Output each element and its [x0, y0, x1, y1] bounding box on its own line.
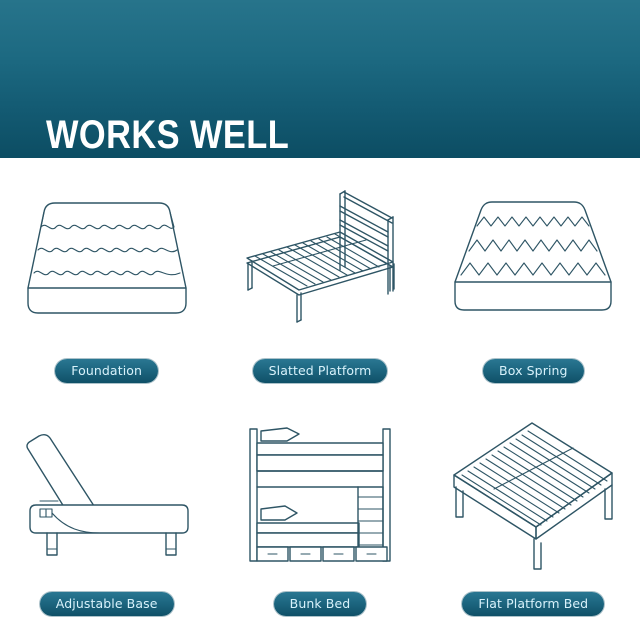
label-wrap: Flat Platform Bed [427, 590, 640, 616]
adjustable-base-icon [14, 413, 200, 575]
base-label-flat-platform-bed: Flat Platform Bed [462, 592, 604, 616]
infographic-card: WORKS WELL WITH THESE BASES Foundation [0, 0, 640, 640]
foundation-mattress-icon [14, 170, 200, 332]
header-banner: WORKS WELL WITH THESE BASES [0, 0, 640, 158]
base-item-flat-platform-bed[interactable]: Flat Platform Bed [427, 399, 640, 640]
base-item-adjustable-base[interactable]: Adjustable Base [0, 399, 213, 640]
base-label-foundation: Foundation [55, 359, 158, 383]
label-wrap: Bunk Bed [213, 590, 426, 616]
base-label-bunk-bed: Bunk Bed [274, 592, 367, 616]
label-wrap: Foundation [0, 357, 213, 383]
base-item-box-spring[interactable]: Box Spring [427, 158, 640, 399]
label-wrap: Box Spring [427, 357, 640, 383]
base-item-foundation[interactable]: Foundation [0, 158, 213, 399]
bunk-bed-icon [227, 413, 413, 575]
bases-grid: Foundation [0, 158, 640, 640]
base-label-box-spring: Box Spring [483, 359, 584, 383]
page-title: WORKS WELL WITH THESE BASES [46, 28, 393, 158]
flat-platform-bed-icon [440, 413, 626, 575]
base-label-adjustable-base: Adjustable Base [40, 592, 174, 616]
base-item-bunk-bed[interactable]: Bunk Bed [213, 399, 426, 640]
base-item-slatted-platform[interactable]: Slatted Platform [213, 158, 426, 399]
page-title-line-1: WORKS WELL [46, 114, 393, 157]
slatted-platform-bed-icon [227, 170, 413, 332]
box-spring-icon [440, 170, 626, 332]
label-wrap: Slatted Platform [213, 357, 426, 383]
base-label-slatted-platform: Slatted Platform [253, 359, 388, 383]
label-wrap: Adjustable Base [0, 590, 213, 616]
